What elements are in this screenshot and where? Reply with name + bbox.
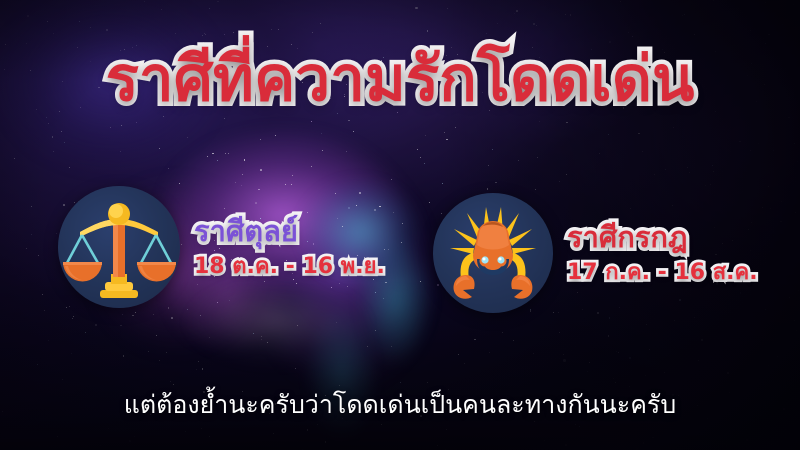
sign-card-libra: ราศีตุลย์ 18 ต.ค. - 16 พ.ย. [58,186,385,308]
sign-card-cancer: ราศีกรกฎ 17 ก.ค. - 16 ส.ค. [433,193,758,313]
poster-canvas: ราศีที่ความรักโดดเด่น [0,0,800,450]
cancer-text-block: ราศีกรกฎ 17 ก.ค. - 16 ส.ค. [567,221,758,285]
libra-scales-icon [58,186,180,308]
libra-text-block: ราศีตุลย์ 18 ต.ค. - 16 พ.ย. [194,215,385,279]
cancer-icon-disc [433,193,553,313]
sign-name-libra: ราศีตุลย์ [194,215,385,247]
sign-date-cancer: 17 ก.ค. - 16 ส.ค. [567,261,758,285]
title-block: ราศีที่ความรักโดดเด่น [0,46,800,111]
libra-icon-disc [58,186,180,308]
cancer-crab-icon [433,193,553,313]
page-title: ราศีที่ความรักโดดเด่น [106,46,695,111]
sign-name-cancer: ราศีกรกฎ [567,221,758,253]
sign-date-libra: 18 ต.ค. - 16 พ.ย. [194,255,385,279]
caption-text: แต่ต้องย้ำนะครับว่าโดดเด่นเป็นคนละทางกัน… [0,390,800,420]
